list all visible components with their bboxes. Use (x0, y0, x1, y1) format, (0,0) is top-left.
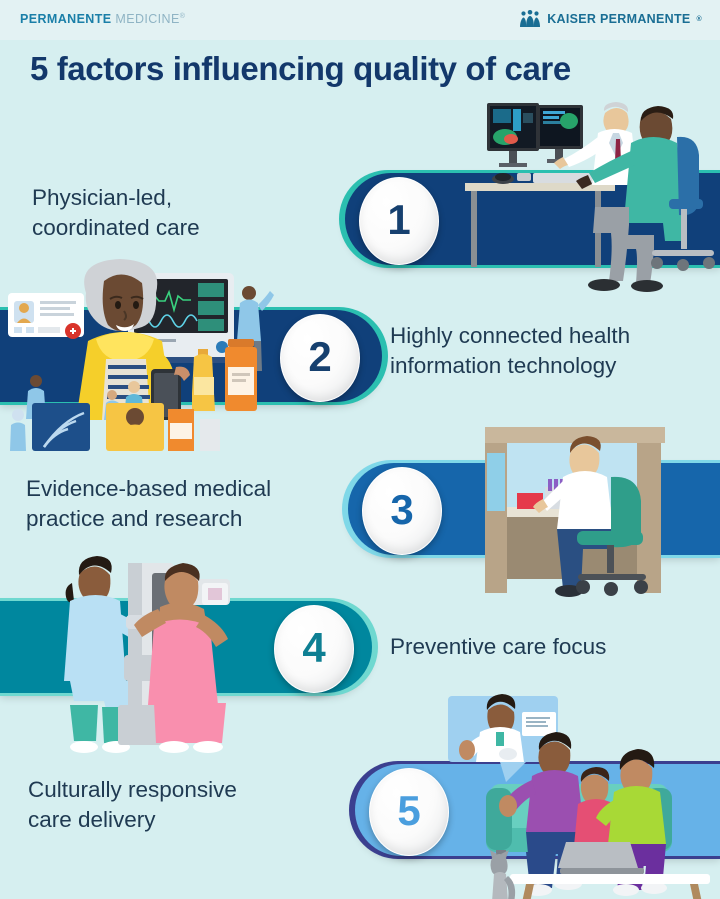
factor-row-2: 2 Highly connected health information te… (0, 310, 720, 405)
logo-permanente-word: PERMANENTE (20, 12, 112, 26)
kp-registered-mark: ® (697, 16, 702, 23)
factor-caption-2: Highly connected health information tech… (390, 321, 710, 380)
logo-registered-mark: ® (180, 13, 186, 20)
permanente-medicine-logo: PERMANENTE MEDICINE® (20, 12, 185, 26)
factor-number-3: 3 (390, 489, 413, 531)
factor-caption-1: Physician-led, coordinated care (32, 183, 322, 242)
factor-number-1: 1 (387, 199, 410, 241)
kp-logo-text: KAISER PERMANENTE (547, 12, 690, 26)
factor-badge-disc-3: 3 (362, 467, 442, 555)
factor-number-5: 5 (397, 790, 420, 832)
illustration-chart-and-shelf-fragment (10, 403, 270, 463)
factor-badge-4: 4 (272, 603, 356, 695)
factor-number-4: 4 (302, 627, 325, 669)
logo-medicine-word: MEDICINE (115, 12, 179, 26)
factor-badge-5: 5 (367, 766, 451, 858)
factor-badge-disc-5: 5 (369, 768, 449, 856)
illustration-researcher-at-lab-fume-hood (465, 417, 715, 597)
factor-caption-5: Culturally responsive care delivery (28, 775, 348, 834)
factor-caption-4: Preventive care focus (390, 632, 710, 662)
factor-badge-disc-4: 4 (274, 605, 354, 693)
infographic-page: PERMANENTE MEDICINE® KAISER PERMANENTE® … (0, 0, 720, 899)
factor-badge-disc-2: 2 (280, 314, 360, 402)
factor-row-5: 5 Culturally responsive care delivery (0, 764, 720, 859)
kp-thrive-people-icon (519, 10, 541, 28)
illustration-physicians-at-dual-monitor-workstation (455, 95, 720, 295)
illustration-medication-bottles (192, 333, 284, 411)
factor-badge-disc-1: 1 (359, 177, 439, 265)
factor-badge-3: 3 (360, 465, 444, 557)
factor-row-4: 4 Preventive care focus (0, 601, 720, 696)
factor-number-2: 2 (308, 336, 331, 378)
factor-badge-2: 2 (278, 312, 362, 404)
illustration-mammography-screening (62, 555, 287, 755)
kaiser-permanente-logo: KAISER PERMANENTE® (519, 10, 702, 28)
illustration-family-telehealth-video-visit (440, 692, 720, 899)
factor-row-3: 3 Evidence-based medical practice and re… (0, 463, 720, 558)
page-title: 5 factors influencing quality of care (30, 50, 571, 88)
factor-badge-1: 1 (357, 175, 441, 267)
factor-caption-3: Evidence-based medical practice and rese… (26, 474, 346, 533)
factor-row-1: 1 Physician-led, coordinated care (0, 173, 720, 268)
